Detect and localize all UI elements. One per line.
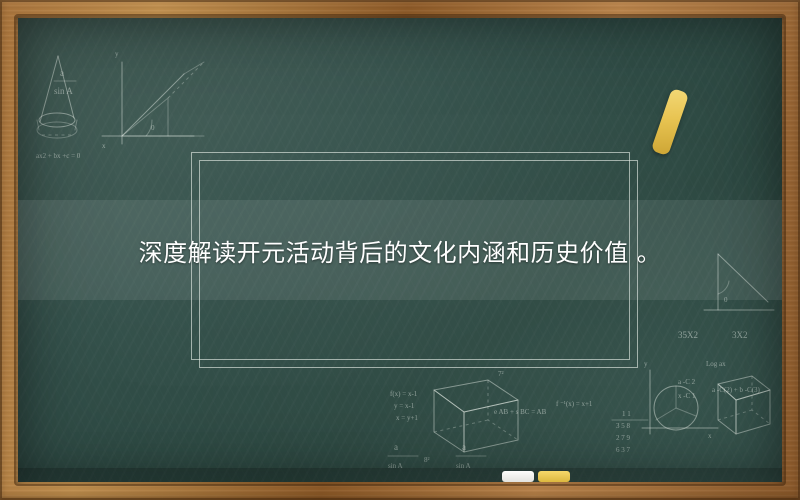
chalk-stick-white-tray: [502, 471, 534, 482]
svg-text:0: 0: [151, 124, 155, 132]
svg-text:Log ax: Log ax: [706, 360, 726, 368]
doodle-cube: f(x) = x-1 y = x-1 x = y+1 7² e AB + s B…: [390, 370, 547, 452]
svg-text:y: y: [115, 50, 119, 58]
doodle-inverse-digits: f ⁻¹(x) = x+1 1 1 3 5 8 2 7 9 6 3 7: [556, 400, 648, 454]
svg-text:x: x: [708, 432, 712, 440]
svg-text:35X2: 35X2: [678, 330, 698, 340]
doodle-fractions: a sin A 8² a sin A: [388, 442, 486, 470]
svg-text:y = x-1: y = x-1: [394, 402, 415, 410]
doodle-top-left-axes: y x 0: [102, 50, 204, 150]
svg-text:3 5 8: 3 5 8: [616, 422, 631, 430]
svg-text:y: y: [644, 360, 648, 368]
svg-text:a -C 2: a -C 2: [678, 378, 696, 386]
svg-text:8²: 8²: [424, 456, 430, 464]
svg-text:sin A: sin A: [54, 86, 73, 96]
svg-text:1 1: 1 1: [622, 410, 631, 418]
svg-text:ax2 + bx +c = 0: ax2 + bx +c = 0: [36, 152, 81, 160]
svg-text:f ⁻¹(x) = x+1: f ⁻¹(x) = x+1: [556, 400, 593, 408]
doodle-top-left-cone: a sin A ax2 + bx +c = 0: [36, 56, 81, 160]
headline-text: 深度解读开元活动背后的文化内涵和历史价值 。: [18, 200, 782, 300]
svg-text:a: a: [60, 68, 64, 78]
svg-text:6 3 7: 6 3 7: [616, 446, 631, 454]
svg-text:x -C 1: x -C 1: [678, 392, 696, 400]
svg-text:a: a: [462, 442, 466, 452]
svg-text:e AB + s BC = AB: e AB + s BC = AB: [494, 408, 547, 416]
svg-text:f(x) = x-1: f(x) = x-1: [390, 390, 418, 398]
chalkboard-scene: a sin A ax2 + bx +c = 0 y x 0: [0, 0, 800, 500]
doodle-bottom-right: 35X2 3X2 Log ax a -C 2 x -C 1 a -C(2) + …: [642, 330, 770, 440]
chalk-stick-yellow-tray: [538, 471, 570, 482]
svg-text:2 7 9: 2 7 9: [616, 434, 631, 442]
svg-text:a -C(2) + b -C(3): a -C(2) + b -C(3): [712, 386, 761, 394]
svg-text:x: x: [102, 142, 106, 150]
svg-text:x = y+1: x = y+1: [396, 414, 418, 422]
svg-text:7²: 7²: [498, 370, 504, 378]
svg-text:3X2: 3X2: [732, 330, 748, 340]
svg-text:a: a: [394, 442, 398, 452]
chalk-tray: [18, 468, 782, 482]
